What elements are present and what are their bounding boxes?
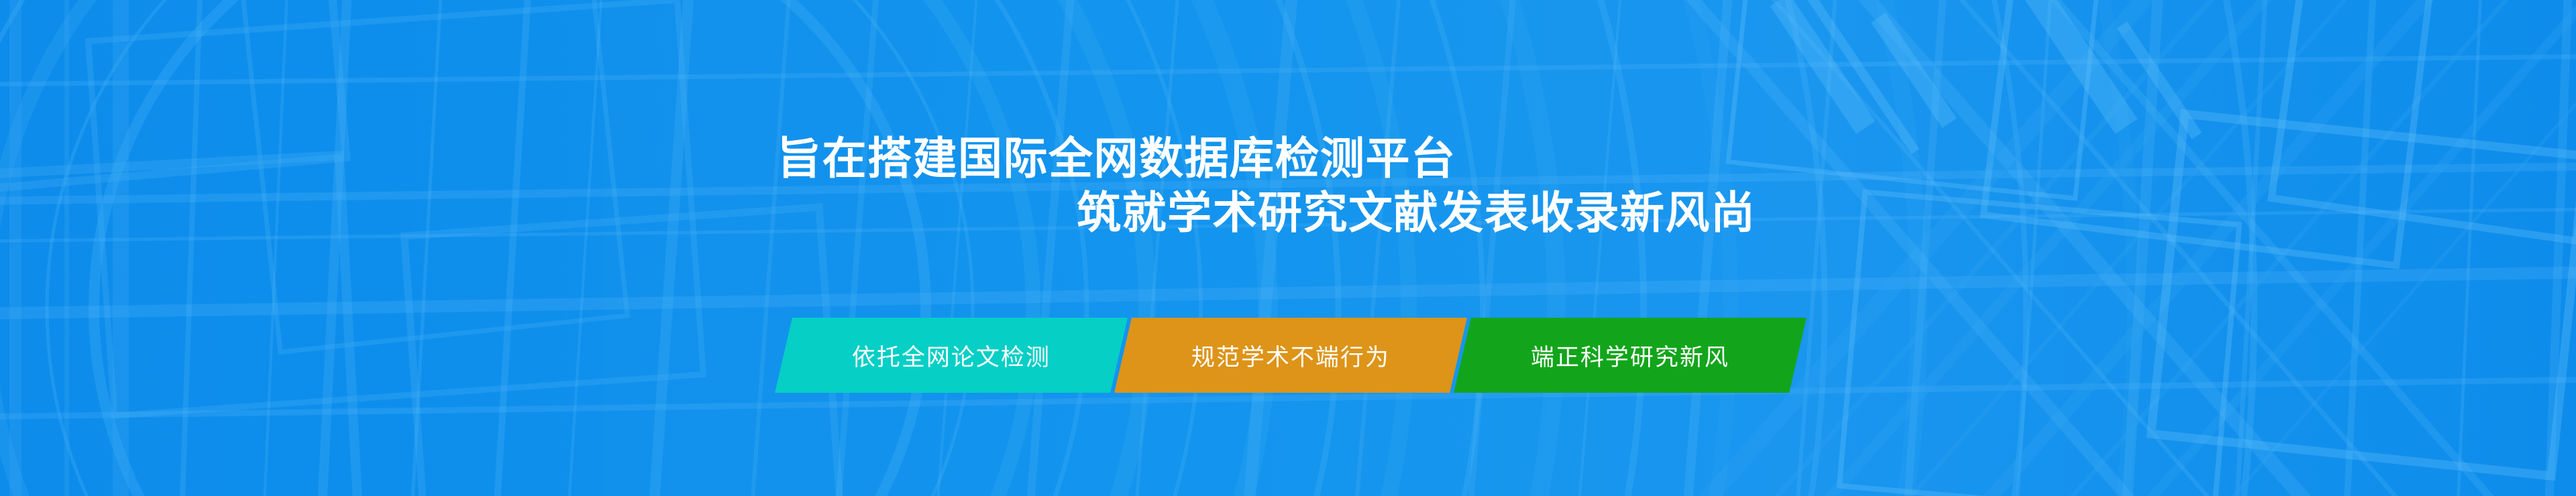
vertical-tech-lines: [181, 0, 2569, 496]
headline-block: 旨在搭建国际全网数据库检测平台 筑就学术研究文献发表收录新风尚: [0, 131, 1811, 239]
bar-accents: [1770, 0, 2202, 154]
radial-arc-rings: [0, 0, 2254, 496]
feature-tag-3-label: 端正科学研究新风: [1528, 338, 1732, 373]
rotated-rect-outlines-right: [1728, 0, 2576, 496]
background-decoration: [0, 0, 2576, 496]
background-pattern-svg: [0, 0, 2576, 496]
background-base: [0, 0, 2576, 496]
headline-line-2: 筑就学术研究文献发表收录新风尚: [0, 186, 1811, 240]
rotated-rect-outlines-left: [0, 0, 843, 496]
promo-banner: 旨在搭建国际全网数据库检测平台 筑就学术研究文献发表收录新风尚 依托全网论文检测…: [0, 0, 2576, 496]
diagonal-crosshatch-right: [1664, 0, 2576, 496]
left-edge-streaks: [9, 0, 129, 496]
feature-tag-1[interactable]: 依托全网论文检测: [775, 318, 1128, 393]
feature-tag-2-label: 规范学术不端行为: [1189, 338, 1393, 373]
diagonal-crosshatch-right-alt: [1623, 0, 2536, 496]
center-glow-wash: [604, 0, 1610, 496]
feature-tag-2[interactable]: 规范学术不端行为: [1114, 318, 1467, 393]
feature-tag-1-label: 依托全网论文检测: [849, 338, 1053, 373]
feature-tag-strip: 依托全网论文检测 规范学术不端行为 端正科学研究新风: [784, 318, 1798, 393]
headline-line-1: 旨在搭建国际全网数据库检测平台: [0, 131, 1811, 186]
feature-tag-3[interactable]: 端正科学研究新风: [1454, 318, 1807, 393]
